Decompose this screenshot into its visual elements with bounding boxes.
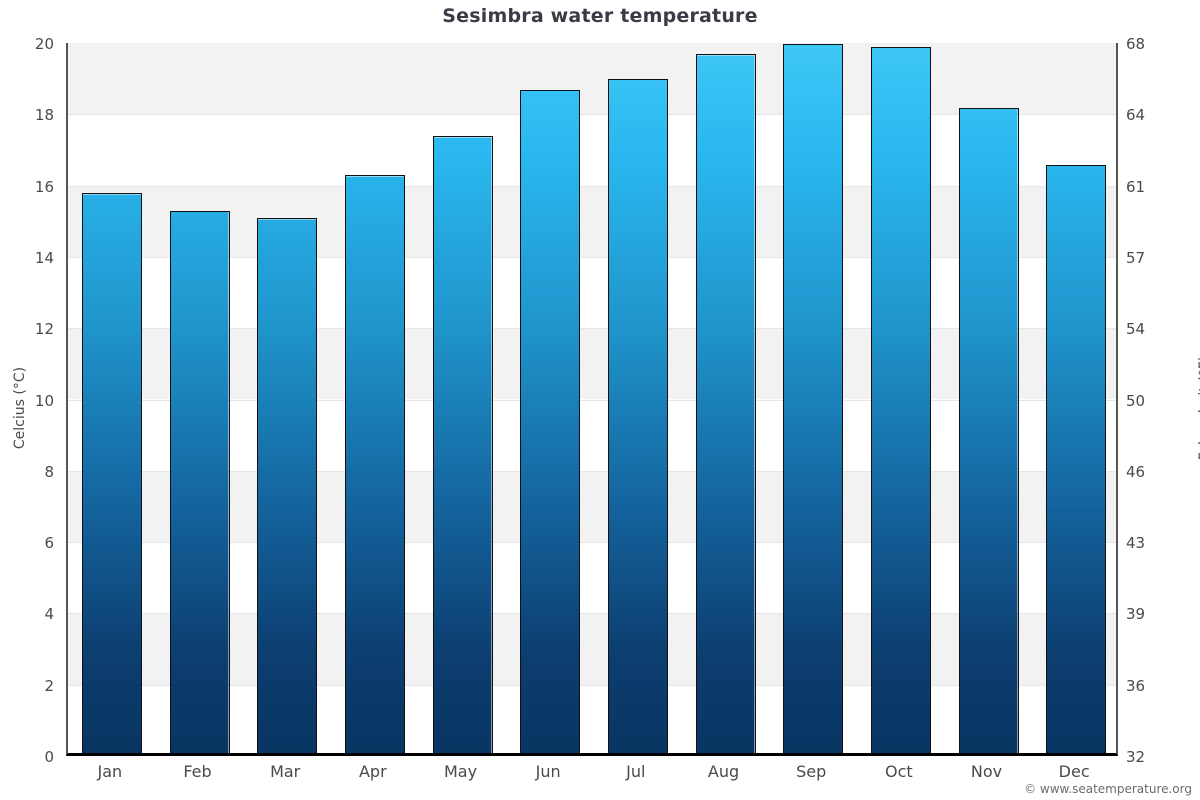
y-tick-left-14: 14 bbox=[2, 249, 54, 267]
y-tick-left-10: 10 bbox=[2, 392, 54, 410]
y-tick-left-12: 12 bbox=[2, 320, 54, 338]
y-tick-right-39: 39 bbox=[1126, 605, 1178, 623]
x-tick-may: May bbox=[417, 762, 505, 781]
y-tick-right-68: 68 bbox=[1126, 35, 1178, 53]
x-tick-mar: Mar bbox=[241, 762, 329, 781]
bar-series bbox=[68, 43, 1116, 753]
plot-area bbox=[66, 43, 1118, 756]
bar-feb[interactable] bbox=[170, 211, 230, 753]
chart-title: Sesimbra water temperature bbox=[0, 5, 1200, 27]
y-tick-left-2: 2 bbox=[2, 677, 54, 695]
y-tick-right-57: 57 bbox=[1126, 249, 1178, 267]
y-tick-right-43: 43 bbox=[1126, 534, 1178, 552]
y-tick-right-36: 36 bbox=[1126, 677, 1178, 695]
y-tick-right-50: 50 bbox=[1126, 392, 1178, 410]
bar-dec[interactable] bbox=[1046, 165, 1106, 753]
bar-oct[interactable] bbox=[871, 47, 931, 753]
y-tick-left-4: 4 bbox=[2, 605, 54, 623]
y-tick-right-54: 54 bbox=[1126, 320, 1178, 338]
x-tick-nov: Nov bbox=[943, 762, 1031, 781]
y-tick-right-46: 46 bbox=[1126, 463, 1178, 481]
x-tick-oct: Oct bbox=[855, 762, 943, 781]
y-tick-left-16: 16 bbox=[2, 178, 54, 196]
bar-sep[interactable] bbox=[783, 44, 843, 753]
x-tick-jul: Jul bbox=[592, 762, 680, 781]
bar-may[interactable] bbox=[433, 136, 493, 753]
x-tick-jun: Jun bbox=[504, 762, 592, 781]
x-tick-apr: Apr bbox=[329, 762, 417, 781]
water-temperature-chart: Sesimbra water temperature 0246810121416… bbox=[0, 0, 1200, 800]
bar-mar[interactable] bbox=[257, 218, 317, 753]
bar-nov[interactable] bbox=[959, 108, 1019, 753]
x-tick-dec: Dec bbox=[1030, 762, 1118, 781]
bar-jun[interactable] bbox=[520, 90, 580, 753]
bar-jan[interactable] bbox=[82, 193, 142, 753]
y-tick-right-64: 64 bbox=[1126, 106, 1178, 124]
y-tick-left-18: 18 bbox=[2, 106, 54, 124]
bar-jul[interactable] bbox=[608, 79, 668, 753]
y-tick-right-32: 32 bbox=[1126, 748, 1178, 766]
x-tick-aug: Aug bbox=[680, 762, 768, 781]
y-tick-left-8: 8 bbox=[2, 463, 54, 481]
y-tick-left-6: 6 bbox=[2, 534, 54, 552]
copyright-credit: © www.seatemperature.org bbox=[1024, 782, 1192, 796]
y-tick-left-20: 20 bbox=[2, 35, 54, 53]
y-tick-left-0: 0 bbox=[2, 748, 54, 766]
x-tick-jan: Jan bbox=[66, 762, 154, 781]
x-tick-sep: Sep bbox=[767, 762, 855, 781]
y-tick-right-61: 61 bbox=[1126, 178, 1178, 196]
bar-aug[interactable] bbox=[696, 54, 756, 753]
bar-apr[interactable] bbox=[345, 175, 405, 753]
x-tick-feb: Feb bbox=[154, 762, 242, 781]
y-axis-left-title: Celcius (°C) bbox=[12, 328, 28, 488]
